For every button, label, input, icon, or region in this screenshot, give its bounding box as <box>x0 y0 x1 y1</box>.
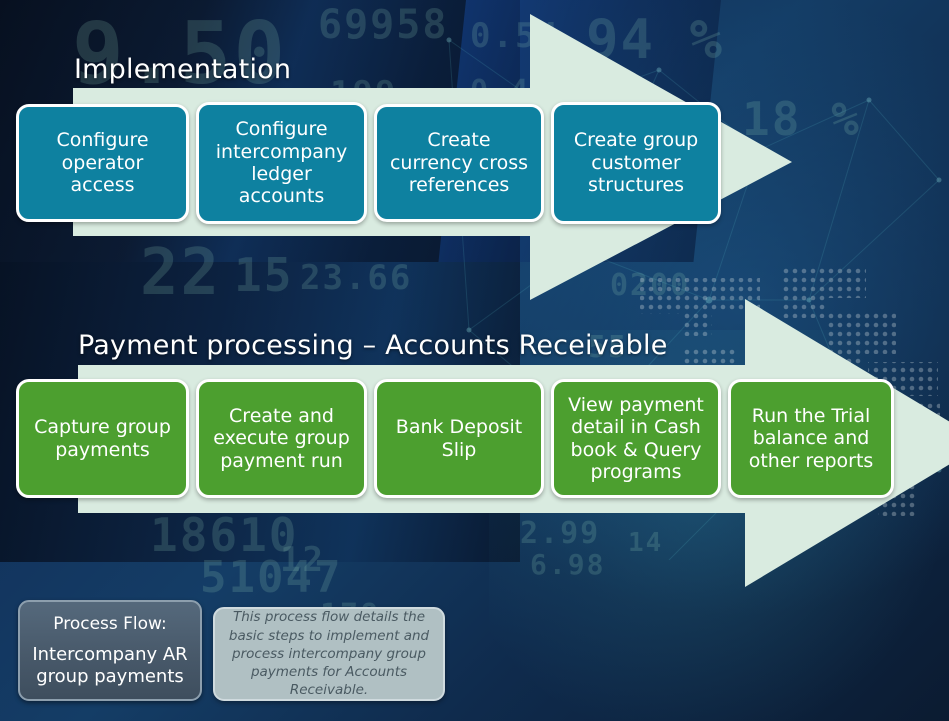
step-box-capture-group-payments[interactable]: Capture group payments <box>16 379 189 498</box>
step-box-configure-operator-access[interactable]: Configure operator access <box>16 104 189 222</box>
process-flow-description: This process flow details the basic step… <box>213 607 445 701</box>
slide-canvas: 9.50699580.541990.45221523.66186102.9951… <box>0 0 949 721</box>
step-box-create-currency-cross-references[interactable]: Create currency cross references <box>374 104 544 222</box>
row-implementation: Configure operator access Configure inte… <box>16 104 721 224</box>
process-flow-label-heading: Process Flow: <box>53 613 167 635</box>
step-box-bank-deposit-slip[interactable]: Bank Deposit Slip <box>374 379 544 498</box>
step-box-configure-intercompany-ledger-accounts[interactable]: Configure intercompany ledger accounts <box>196 102 367 224</box>
process-flow-label-name: Intercompany AR group payments <box>26 644 194 688</box>
section-title-payment-processing: Payment processing – Accounts Receivable <box>78 330 668 361</box>
step-box-create-group-customer-structures[interactable]: Create group customer structures <box>551 102 721 224</box>
row-payment-processing: Capture group payments Create and execut… <box>16 379 894 498</box>
section-title-implementation: Implementation <box>74 54 291 85</box>
step-box-view-payment-detail[interactable]: View payment detail in Cash book & Query… <box>551 379 721 498</box>
process-flow-label: Process Flow: Intercompany AR group paym… <box>18 600 202 701</box>
step-box-run-trial-balance[interactable]: Run the Trial balance and other reports <box>728 379 894 498</box>
step-box-create-and-execute-group-payment-run[interactable]: Create and execute group payment run <box>196 379 367 498</box>
